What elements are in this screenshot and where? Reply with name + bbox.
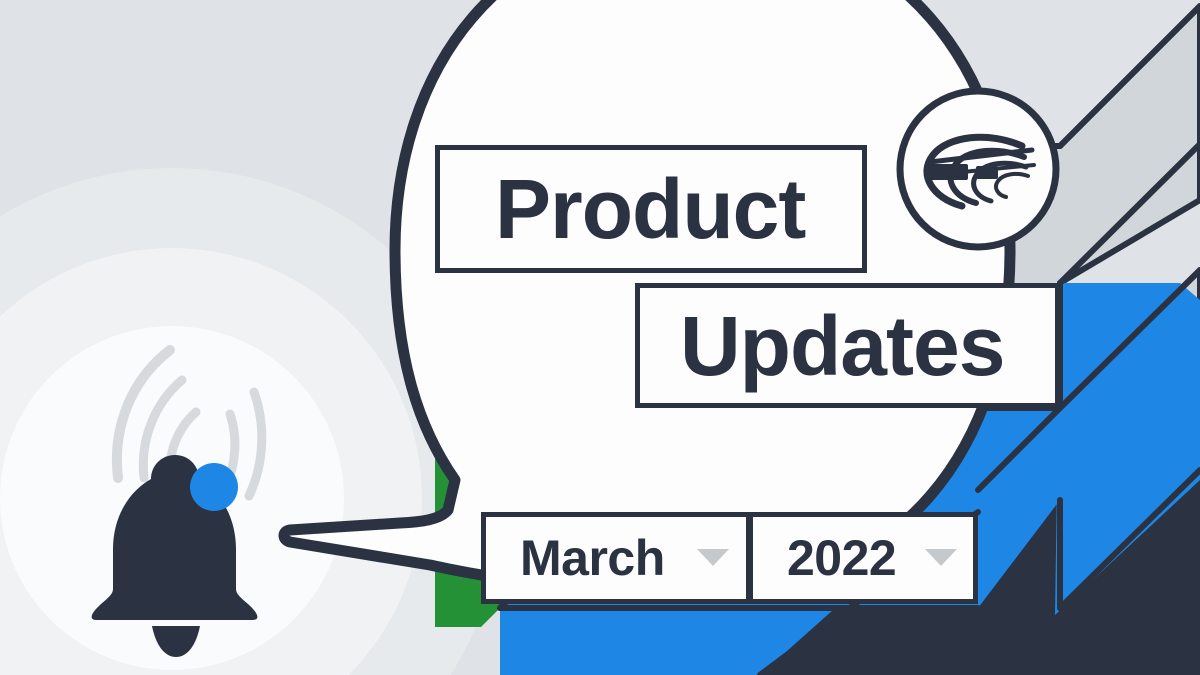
headline-box-updates: Updates bbox=[635, 283, 1060, 408]
headline-line-1: Product bbox=[495, 167, 805, 251]
month-value: March bbox=[520, 533, 665, 583]
brand-swoosh-bars bbox=[930, 164, 998, 180]
headline-box-product: Product bbox=[435, 145, 867, 273]
chevron-down-icon[interactable] bbox=[697, 549, 729, 566]
chevron-down-icon[interactable] bbox=[925, 549, 957, 566]
year-value: 2022 bbox=[787, 533, 896, 583]
headline-line-2: Updates bbox=[680, 304, 1004, 388]
product-updates-banner: Product Updates March 2022 bbox=[0, 0, 1200, 675]
